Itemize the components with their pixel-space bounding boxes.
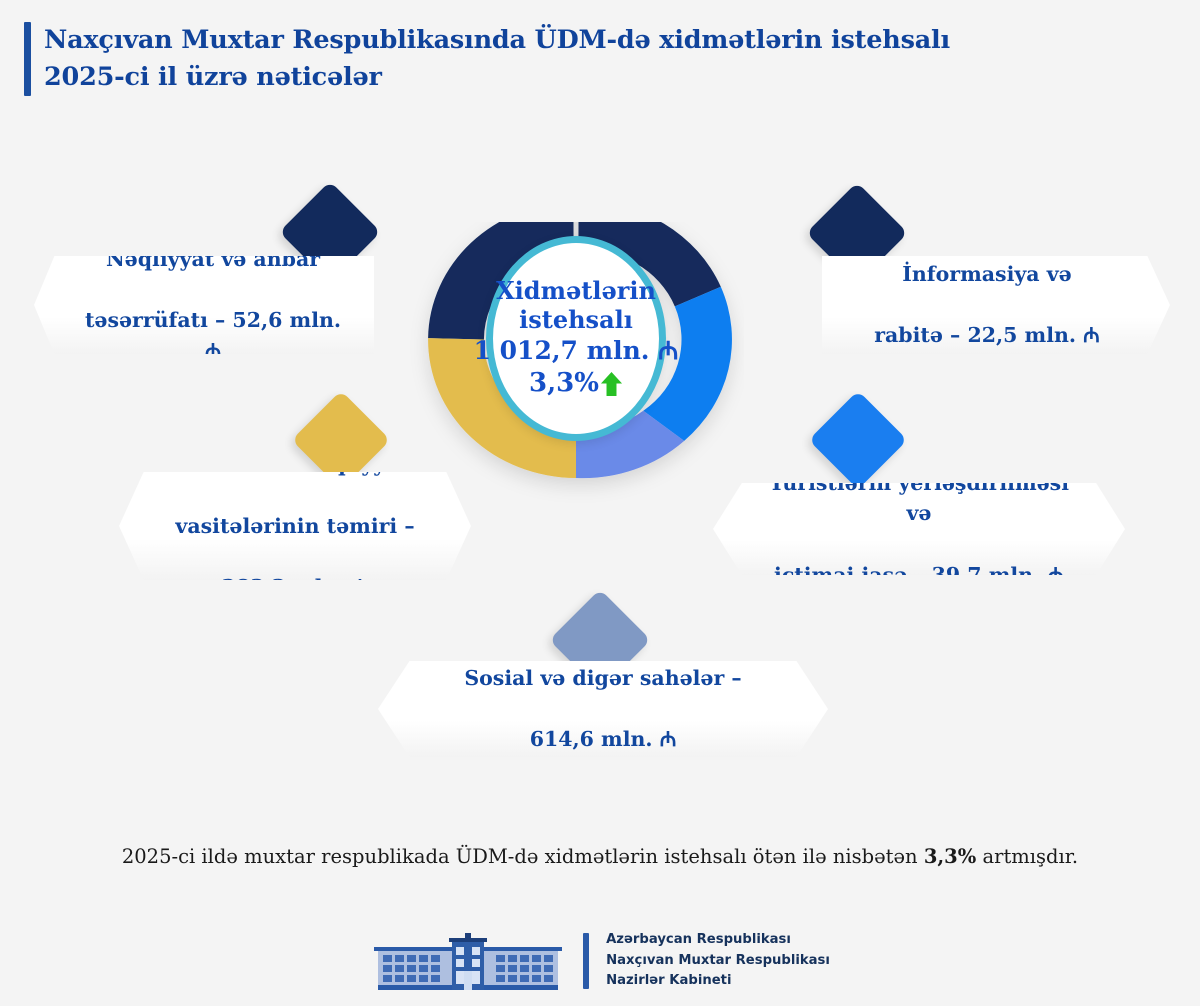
- label-ticaret-text: Ticarət və nəqliyyat vasitələrinin təmir…: [163, 449, 427, 603]
- label-sosial-line-1: Sosial və digər sahələr –: [422, 663, 784, 694]
- label-ticaret-line-2: vasitələrinin təmiri –: [163, 511, 427, 542]
- logo-text: Azərbaycan Respublikası Naxçıvan Muxtar …: [606, 930, 830, 991]
- center-label-line-2: istehsalı: [474, 305, 679, 334]
- logo-line-1: Azərbaycan Respublikası: [606, 930, 830, 950]
- center-total-value: 1 012,7 mln. ₼: [474, 336, 679, 367]
- donut-center-callout: Xidmətlərin istehsalı 1 012,7 mln. ₼ 3,3…: [486, 236, 666, 441]
- label-turist[interactable]: Turistlərin yerləşdirilməsi və ictimai i…: [713, 483, 1125, 575]
- label-informasiya-text: İnformasiya və rabitə – 22,5 mln. ₼: [848, 259, 1126, 351]
- footer-logo-bar: Azərbaycan Respublikası Naxçıvan Muxtar …: [0, 925, 1200, 997]
- center-growth: 3,3%: [474, 368, 679, 400]
- footnote-before: 2025-ci ildə muxtar respublikada ÜDM-də …: [122, 845, 924, 868]
- logo-divider: [583, 933, 589, 989]
- center-label-line-1: Xidmətlərin: [474, 276, 679, 305]
- label-informasiya-line-2: rabitə – 22,5 mln. ₼: [848, 320, 1126, 351]
- label-ticaret-line-3: 283,3 mln. ₼: [163, 572, 427, 603]
- label-informasiya-line-1: İnformasiya və: [848, 259, 1126, 290]
- logo-line-3: Nazirlər Kabineti: [606, 971, 830, 991]
- label-sosial-text: Sosial və digər sahələr – 614,6 mln. ₼: [422, 663, 784, 755]
- label-sosial-line-2: 614,6 mln. ₼: [422, 724, 784, 755]
- footnote-highlight: 3,3%: [924, 845, 976, 868]
- government-building-icon: [370, 930, 566, 992]
- logo-line-2: Naxçıvan Muxtar Respublikası: [606, 951, 830, 971]
- label-informasiya[interactable]: İnformasiya və rabitə – 22,5 mln. ₼: [822, 256, 1170, 354]
- donut-center-text: Xidmətlərin istehsalı 1 012,7 mln. ₼ 3,3…: [474, 276, 679, 402]
- label-turist-text: Turistlərin yerləşdirilməsi və ictimai i…: [757, 468, 1081, 591]
- footnote-after: artmışdır.: [976, 845, 1078, 868]
- label-ticaret[interactable]: Ticarət və nəqliyyat vasitələrinin təmir…: [119, 472, 471, 580]
- footnote: 2025-ci ildə muxtar respublikada ÜDM-də …: [0, 845, 1200, 868]
- label-turist-line-1: Turistlərin yerləşdirilməsi və: [757, 468, 1081, 530]
- label-sosial[interactable]: Sosial və digər sahələr – 614,6 mln. ₼: [378, 661, 828, 757]
- center-growth-value: 3,3%: [529, 368, 599, 400]
- label-neqliyyat-text: Nəqliyyat və anbar təsərrüfatı – 52,6 ml…: [78, 244, 348, 367]
- label-neqliyyat-line-2: təsərrüfatı – 52,6 mln. ₼: [78, 305, 348, 367]
- arrow-up-icon: [600, 371, 623, 397]
- marker-diamond-turist: [809, 391, 908, 490]
- label-ticaret-line-1: Ticarət və nəqliyyat: [163, 449, 427, 480]
- label-turist-line-2: ictimai iaşə – 39,7 mln. ₼: [757, 560, 1081, 591]
- label-neqliyyat[interactable]: Nəqliyyat və anbar təsərrüfatı – 52,6 ml…: [34, 256, 374, 354]
